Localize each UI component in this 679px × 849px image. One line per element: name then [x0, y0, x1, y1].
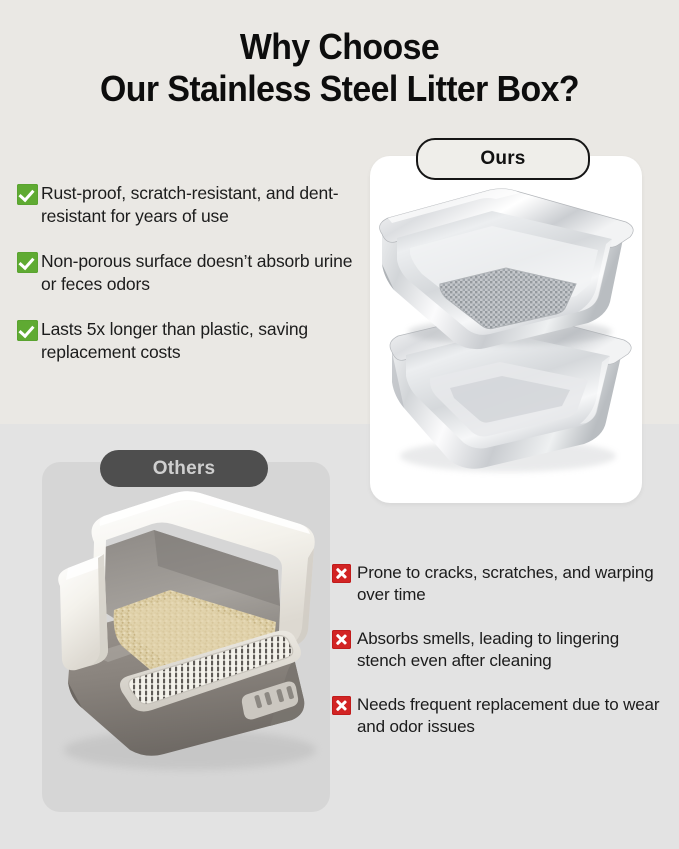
green-check-icon: [17, 320, 38, 341]
list-item: Needs frequent replacement due to wear a…: [332, 694, 672, 738]
green-check-icon: [17, 184, 38, 205]
page-title: Why Choose Our Stainless Steel Litter Bo…: [20, 26, 658, 110]
ours-badge: Ours: [416, 138, 590, 180]
stainless-steel-litter-box-image: [370, 156, 642, 503]
con-item-label: Needs frequent replacement due to wear a…: [357, 694, 672, 738]
red-x-icon: [332, 696, 351, 715]
pros-list: Rust-proof, scratch-resistant, and dent-…: [17, 182, 362, 386]
list-item: Absorbs smells, leading to lingering ste…: [332, 628, 672, 672]
ours-badge-label: Ours: [480, 148, 525, 170]
con-item-label: Prone to cracks, scratches, and warping …: [357, 562, 672, 606]
others-badge: Others: [100, 450, 268, 487]
others-panel: [42, 462, 330, 812]
page-title-line-2: Our Stainless Steel Litter Box?: [20, 68, 658, 110]
cons-list: Prone to cracks, scratches, and warping …: [332, 562, 672, 760]
plastic-litter-box-image: [42, 462, 330, 812]
list-item: Lasts 5x longer than plastic, saving rep…: [17, 318, 362, 363]
list-item: Non-porous surface doesn’t absorb urine …: [17, 250, 362, 295]
red-x-icon: [332, 564, 351, 583]
ours-panel: [370, 156, 642, 503]
green-check-icon: [17, 252, 38, 273]
list-item: Prone to cracks, scratches, and warping …: [332, 562, 672, 606]
pro-item-label: Rust-proof, scratch-resistant, and dent-…: [41, 182, 362, 227]
page-title-line-1: Why Choose: [240, 26, 439, 67]
pro-item-label: Non-porous surface doesn’t absorb urine …: [41, 250, 362, 295]
pro-item-label: Lasts 5x longer than plastic, saving rep…: [41, 318, 362, 363]
list-item: Rust-proof, scratch-resistant, and dent-…: [17, 182, 362, 227]
red-x-icon: [332, 630, 351, 649]
others-badge-label: Others: [153, 458, 215, 480]
con-item-label: Absorbs smells, leading to lingering ste…: [357, 628, 672, 672]
